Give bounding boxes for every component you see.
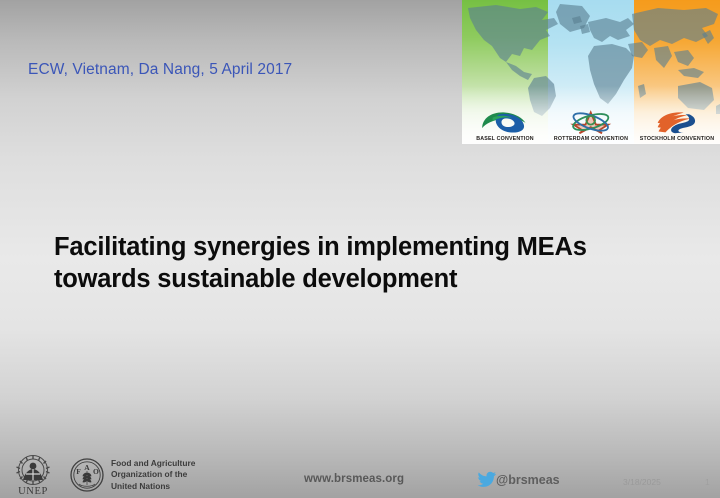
footer-date: 3/18/2025 xyxy=(623,477,661,487)
stockholm-s-logo xyxy=(649,109,704,135)
footer-website-link[interactable]: www.brsmeas.org xyxy=(304,473,404,485)
rotterdam-star-logo xyxy=(563,109,618,135)
convention-logo-row: BASEL CONVENTION ROTTERDAM CONVENTION xyxy=(462,109,720,142)
convention-caption-stockholm: STOCKHOLM CONVENTION xyxy=(640,136,714,142)
svg-text:F: F xyxy=(76,467,81,476)
fao-logo: F A O xyxy=(70,458,104,492)
unep-logo-label: UNEP xyxy=(18,486,48,496)
brs-conventions-banner: BASEL CONVENTION ROTTERDAM CONVENTION xyxy=(462,0,720,144)
fao-organization-name: Food and Agriculture Organization of the… xyxy=(111,458,195,492)
convention-stockholm: STOCKHOLM CONVENTION xyxy=(634,109,720,142)
convention-rotterdam: ROTTERDAM CONVENTION xyxy=(548,109,634,142)
fao-block: F A O Food and Agriculture Organization … xyxy=(70,458,195,492)
world-map xyxy=(462,0,720,118)
convention-caption-basel: BASEL CONVENTION xyxy=(476,136,534,142)
svg-text:O: O xyxy=(93,467,99,476)
footer-partner-logos: UNEP F A O Food and Agriculture Organiza… xyxy=(10,454,195,496)
svg-text:A: A xyxy=(84,463,90,472)
unep-logo: UNEP xyxy=(10,454,56,496)
convention-caption-rotterdam: ROTTERDAM CONVENTION xyxy=(554,136,628,142)
twitter-handle: @brsmeas xyxy=(496,473,560,487)
slide-event-header: ECW, Vietnam, Da Nang, 5 April 2017 xyxy=(28,61,292,79)
slide-title: Facilitating synergies in implementing M… xyxy=(54,232,674,295)
footer-twitter[interactable]: @brsmeas xyxy=(477,471,560,489)
presentation-slide: ECW, Vietnam, Da Nang, 5 April 2017 xyxy=(0,0,720,498)
twitter-bird-icon xyxy=(477,471,497,489)
footer-page-number: 1 xyxy=(705,477,710,487)
basel-b-logo xyxy=(477,109,532,135)
convention-basel: BASEL CONVENTION xyxy=(462,109,548,142)
